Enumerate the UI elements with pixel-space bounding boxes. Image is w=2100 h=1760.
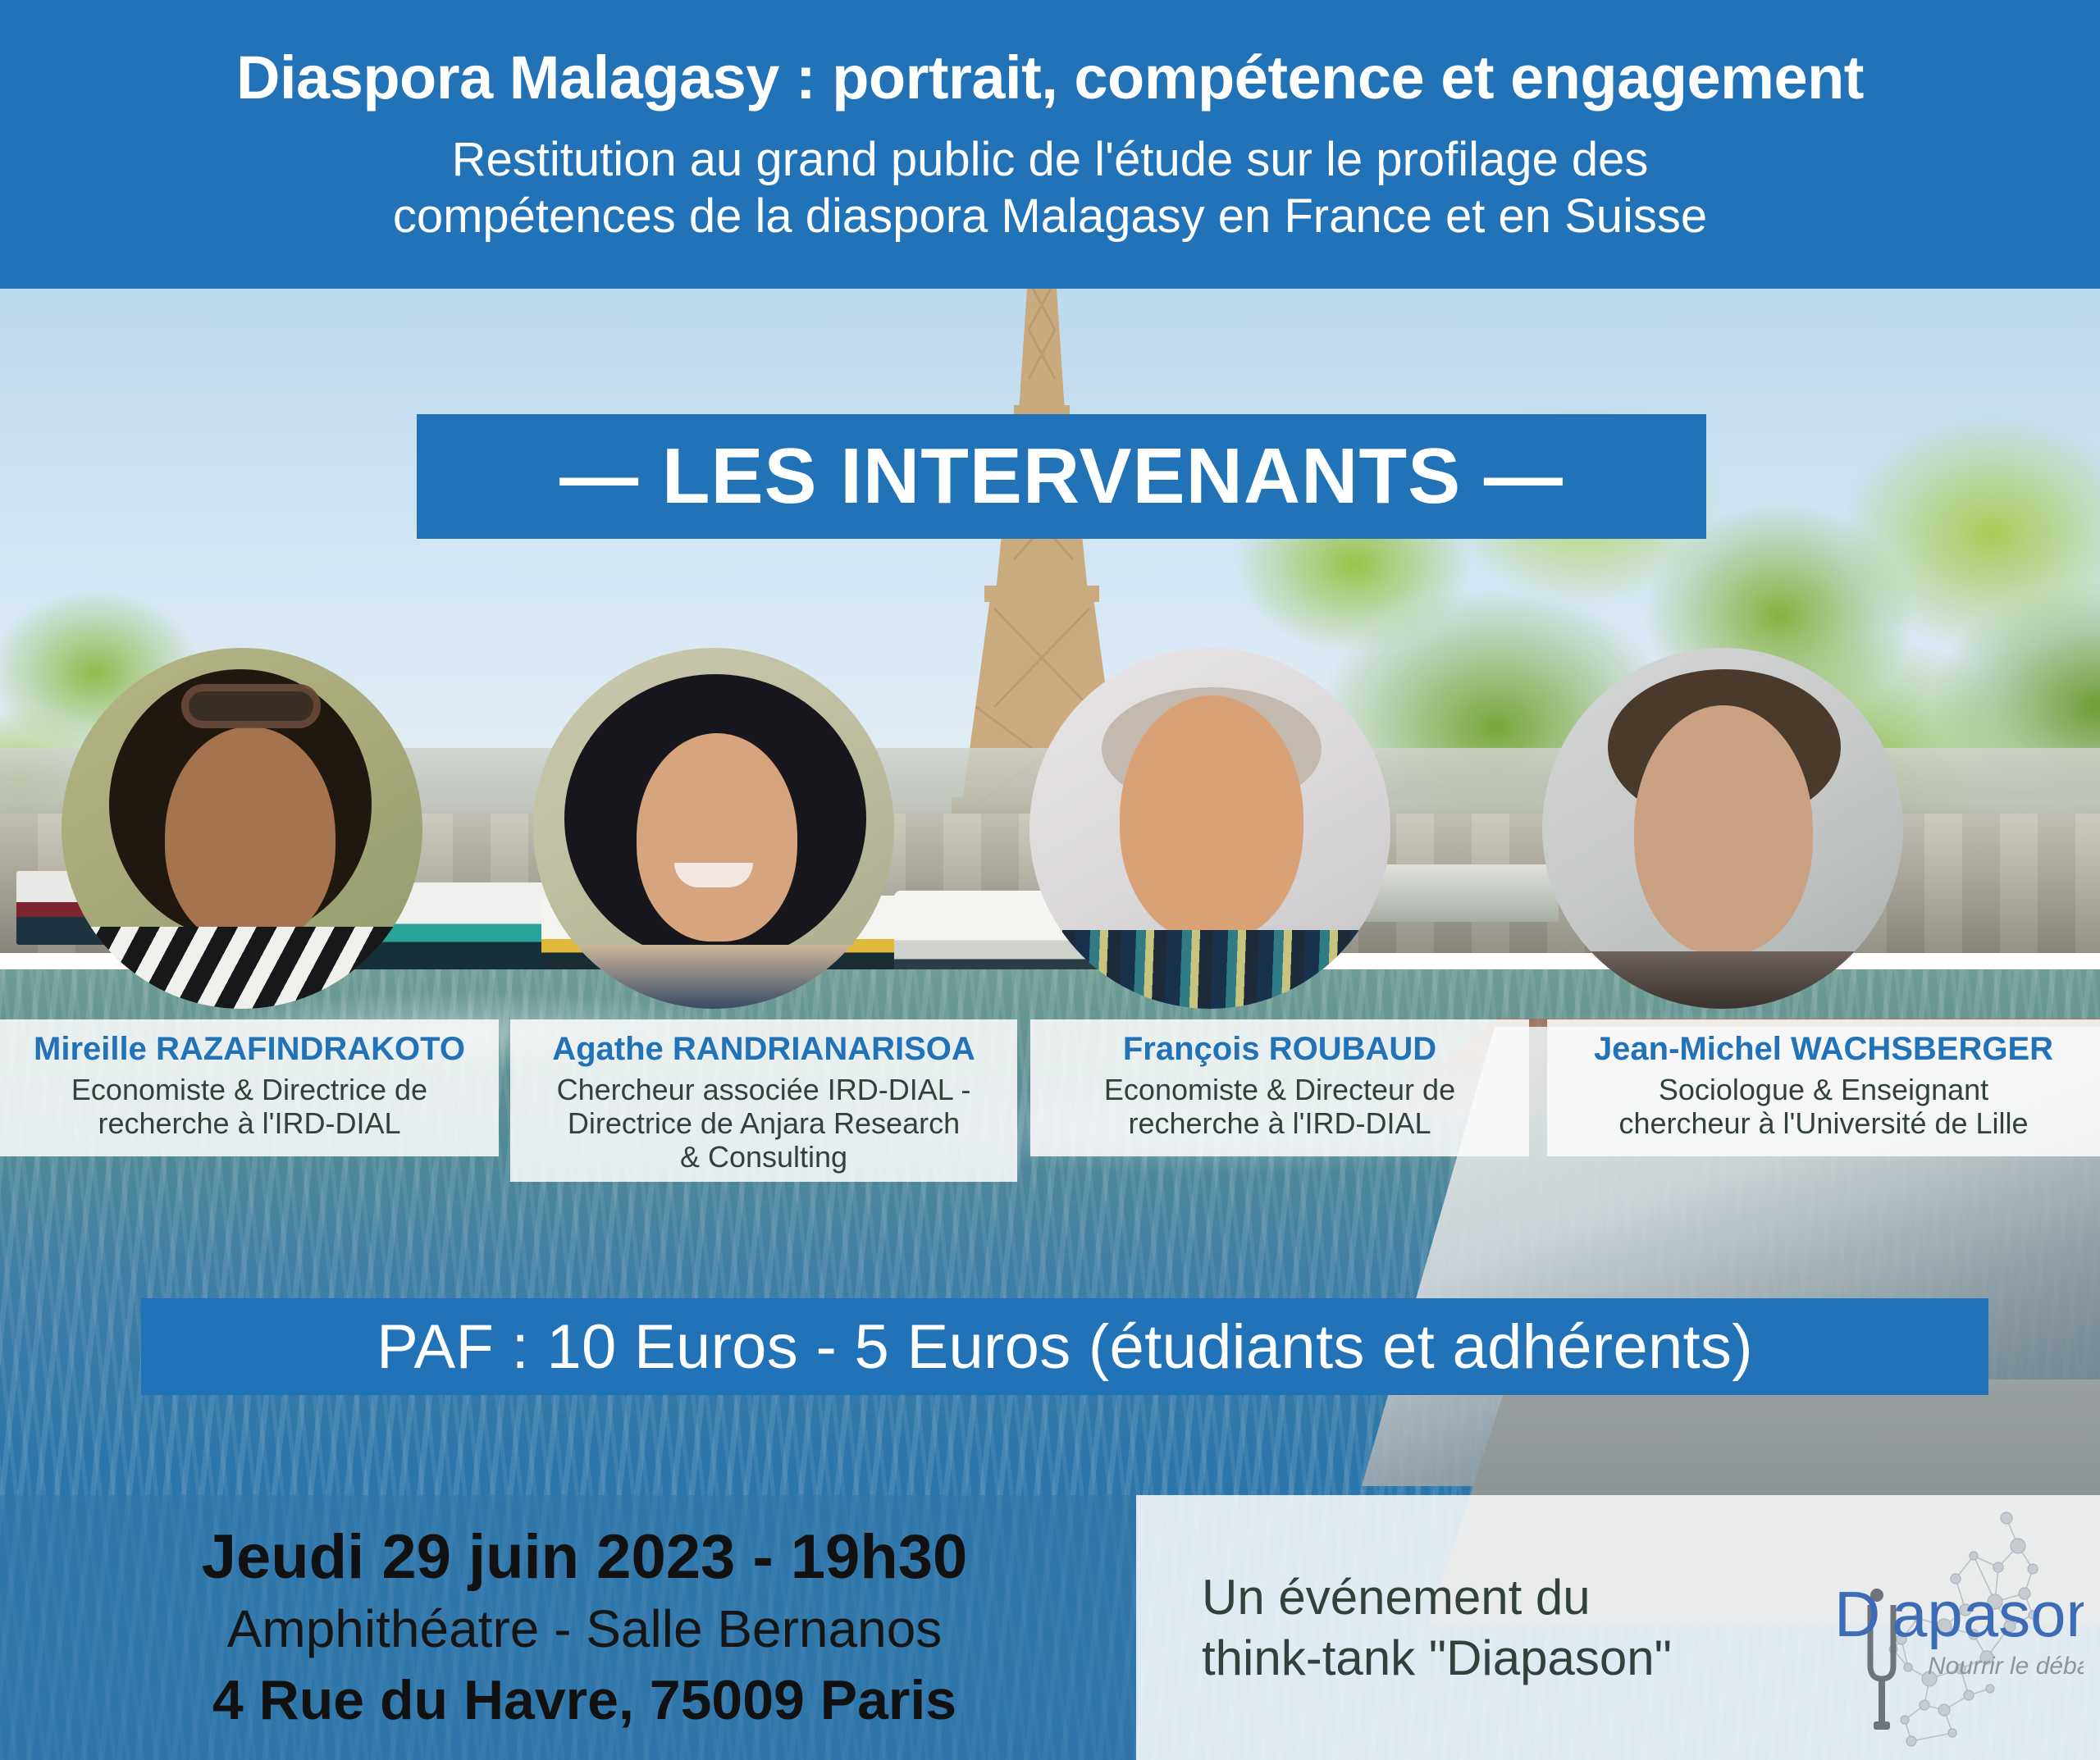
organizer-text: Un événement du think-tank "Diapason" — [1202, 1567, 1672, 1687]
speaker-role-2: Chercheur associée IRD-DIAL - Directrice… — [557, 1073, 971, 1174]
speaker-portraits — [0, 648, 2100, 1033]
poster-subtitle-line-1: Restitution au grand public de l'étude s… — [393, 132, 1707, 188]
svg-text:Nourrir le débat: Nourrir le débat — [1928, 1653, 2084, 1680]
speaker-card-4: Jean-Michel WACHSBERGER Sociologue & Ens… — [1547, 1019, 2100, 1156]
event-date: Jeudi 29 juin 2023 - 19h30 — [202, 1525, 968, 1591]
speaker-role-1-line-1: Economiste & Directrice de — [71, 1073, 427, 1106]
speaker-role-3-line-2: recherche à l'IRD-DIAL — [1104, 1106, 1455, 1140]
speaker-card-2: Agathe RANDRIANARISOA Chercheur associée… — [510, 1019, 1017, 1182]
organizer-line-2: think-tank "Diapason" — [1202, 1628, 1672, 1688]
event-details-panel: Jeudi 29 juin 2023 - 19h30 Amphithéatre … — [0, 1495, 1136, 1760]
diapason-logo: D apason Nourrir le débat — [1813, 1503, 2084, 1749]
speaker-card-1: Mireille RAZAFINDRAKOTO Economiste & Dir… — [0, 1019, 499, 1156]
speaker-role-2-line-1: Chercheur associée IRD-DIAL - — [557, 1073, 971, 1106]
speaker-role-4-line-1: Sociologue & Enseignant — [1618, 1073, 2028, 1106]
speaker-name-2: Agathe RANDRIANARISOA — [552, 1031, 975, 1068]
event-venue: Amphithéatre - Salle Bernanos — [227, 1600, 943, 1659]
speaker-name-4: Jean-Michel WACHSBERGER — [1594, 1031, 2053, 1068]
speaker-role-3: Economiste & Directeur de recherche à l'… — [1104, 1073, 1455, 1140]
poster-subtitle: Restitution au grand public de l'étude s… — [393, 132, 1707, 244]
price-label: PAF : 10 Euros - 5 Euros (étudiants et a… — [377, 1311, 1753, 1383]
avatar-speaker-1 — [62, 648, 422, 1009]
event-address: 4 Rue du Havre, 75009 Paris — [212, 1671, 956, 1730]
svg-text:apason: apason — [1892, 1578, 2084, 1650]
speaker-role-3-line-1: Economiste & Directeur de — [1104, 1073, 1455, 1106]
avatar-speaker-4 — [1542, 648, 1903, 1009]
organizer-panel: Un événement du think-tank "Diapason" — [1136, 1495, 2100, 1760]
price-banner: PAF : 10 Euros - 5 Euros (étudiants et a… — [141, 1298, 1988, 1395]
poster-subtitle-line-2: compétences de la diaspora Malagasy en F… — [393, 189, 1707, 244]
speaker-cards: Mireille RAZAFINDRAKOTO Economiste & Dir… — [0, 1019, 2100, 1183]
header-band: Diaspora Malagasy : portrait, compétence… — [0, 0, 2100, 289]
speaker-name-1: Mireille RAZAFINDRAKOTO — [34, 1031, 465, 1068]
speaker-role-2-line-2: Directrice de Anjara Research — [557, 1106, 971, 1140]
speaker-card-3: François ROUBAUD Economiste & Directeur … — [1030, 1019, 1529, 1156]
poster-title: Diaspora Malagasy : portrait, compétence… — [236, 44, 1864, 111]
event-poster: Diaspora Malagasy : portrait, compétence… — [0, 0, 2100, 1760]
section-banner-label: — LES INTERVENANTS — — [559, 431, 1564, 522]
speaker-role-4-line-2: chercheur à l'Université de Lille — [1618, 1106, 2028, 1140]
organizer-line-1: Un événement du — [1202, 1567, 1672, 1627]
speaker-role-4: Sociologue & Enseignant chercheur à l'Un… — [1618, 1073, 2028, 1140]
speaker-role-1-line-2: recherche à l'IRD-DIAL — [71, 1106, 427, 1140]
speaker-name-3: François ROUBAUD — [1123, 1031, 1436, 1068]
avatar-speaker-2 — [533, 648, 894, 1009]
speaker-role-1: Economiste & Directrice de recherche à l… — [71, 1073, 427, 1140]
speaker-role-2-line-3: & Consulting — [557, 1140, 971, 1174]
avatar-speaker-3 — [1029, 648, 1390, 1009]
svg-text:D: D — [1834, 1578, 1880, 1650]
section-banner-intervenants: — LES INTERVENANTS — — [417, 414, 1706, 539]
